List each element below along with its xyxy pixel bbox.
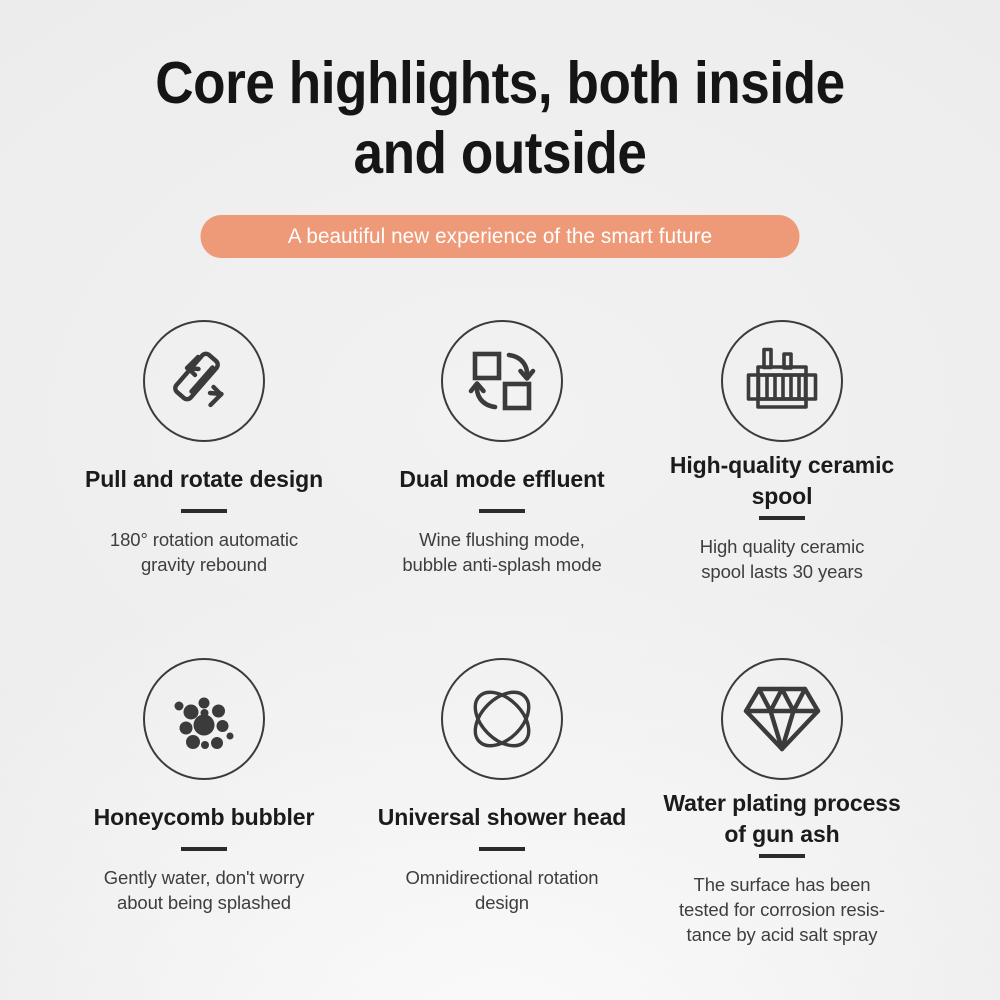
feature-description: The surface has been tested for corrosio…	[617, 858, 947, 947]
feature-card-water-plating-process-of-gun-ash: Water plating process of gun ash The sur…	[617, 638, 947, 947]
feature-row-2: Honeycomb bubbler Gently water, don't wo…	[0, 638, 1000, 976]
feature-title: Pull and rotate design	[39, 442, 369, 495]
page-title-line-1: Core highlights, both inside	[155, 50, 844, 116]
ceramic-spool-icon	[721, 320, 843, 442]
feature-description: 180° rotation automatic gravity rebound	[39, 513, 369, 577]
feature-card-honeycomb-bubbler: Honeycomb bubbler Gently water, don't wo…	[39, 638, 369, 915]
feature-description-line-1: Omnidirectional rotation	[406, 867, 599, 888]
feature-description-line-2: spool lasts 30 years	[701, 561, 863, 582]
feature-description-line-1: Wine flushing mode,	[419, 529, 585, 550]
diamond-icon	[721, 658, 843, 780]
feature-description: High quality ceramic spool lasts 30 year…	[617, 520, 947, 584]
feature-card-pull-and-rotate-design: Pull and rotate design 180° rotation aut…	[39, 300, 369, 577]
subtitle-pill-wrap: A beautiful new experience of the smart …	[0, 215, 1000, 258]
pull-rotate-icon	[143, 320, 265, 442]
feature-description-line-2: gravity rebound	[141, 554, 267, 575]
universal-rotation-icon	[441, 658, 563, 780]
feature-description-line-2: about being splashed	[117, 892, 291, 913]
feature-description-line-1: High quality ceramic	[700, 536, 865, 557]
feature-description-line-2: bubble anti-splash mode	[402, 554, 601, 575]
feature-title: Honeycomb bubbler	[39, 780, 369, 833]
feature-grid: Pull and rotate design 180° rotation aut…	[0, 300, 1000, 976]
honeycomb-bubbles-icon	[143, 658, 265, 780]
feature-card-high-quality-ceramic-spool: High-quality ceramic spool High quality …	[617, 300, 947, 584]
feature-title: High-quality ceramic spool	[617, 442, 947, 512]
feature-title-line-2: of gun ash	[724, 821, 839, 847]
feature-title: Water plating process of gun ash	[617, 780, 947, 850]
feature-description-line-1: 180° rotation automatic	[110, 529, 298, 550]
feature-description-line-2: design	[475, 892, 529, 913]
feature-description-line-1: Gently water, don't worry	[104, 867, 305, 888]
feature-title-line-1: High-quality ceramic	[670, 452, 894, 478]
page-title-line-2: and outside	[50, 118, 950, 188]
infographic-page: Core highlights, both inside and outside…	[0, 0, 1000, 1000]
dual-mode-swap-icon	[441, 320, 563, 442]
feature-row-1: Pull and rotate design 180° rotation aut…	[0, 300, 1000, 638]
feature-description-line-2: tested for corrosion resis-	[679, 899, 885, 920]
page-title: Core highlights, both inside and outside	[50, 0, 950, 188]
feature-description-line-1: The surface has been	[694, 874, 871, 895]
header: Core highlights, both inside and outside…	[0, 0, 1000, 258]
feature-title-line-1: Water plating process	[663, 790, 900, 816]
subtitle-pill: A beautiful new experience of the smart …	[200, 215, 799, 258]
feature-description-line-3: tance by acid salt spray	[687, 924, 878, 945]
feature-description: Gently water, don't worry about being sp…	[39, 851, 369, 915]
feature-title-line-2: spool	[752, 483, 813, 509]
